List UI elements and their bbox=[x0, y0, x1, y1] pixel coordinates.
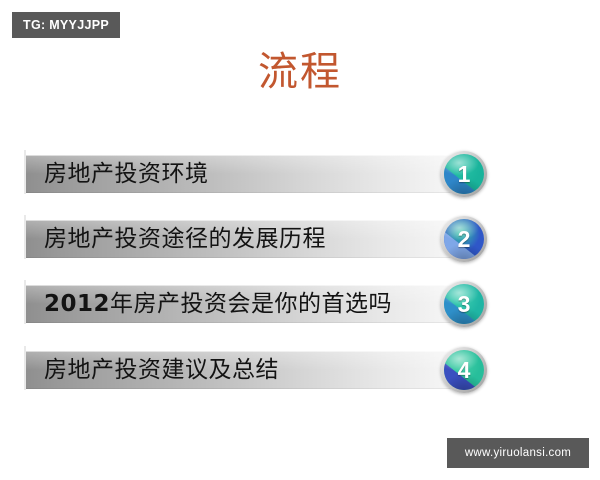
badge-number: 3 bbox=[458, 293, 471, 316]
step-badge-4[interactable]: 4 bbox=[441, 347, 487, 393]
badge-core: 2 bbox=[444, 219, 484, 259]
badge-number: 4 bbox=[458, 359, 471, 382]
list-item[interactable]: 房地产投资建议及总结 4 bbox=[0, 344, 600, 396]
list-item-label: 2012年房产投资会是你的首选吗 bbox=[44, 285, 392, 323]
list-item-label-text: 房地产投资途径的发展历程 bbox=[44, 226, 326, 252]
list-item-label-text: 房地产投资环境 bbox=[44, 161, 209, 187]
step-badge-1[interactable]: 1 bbox=[441, 151, 487, 197]
list-item[interactable]: 2012年房产投资会是你的首选吗 3 bbox=[0, 278, 600, 330]
list-item-label-bold: 2012 bbox=[44, 291, 110, 317]
list-item-label: 房地产投资建议及总结 bbox=[44, 351, 279, 389]
list-item-label-text: 房地产投资建议及总结 bbox=[44, 357, 279, 383]
list-item-label: 房地产投资途径的发展历程 bbox=[44, 220, 326, 258]
step-badge-2[interactable]: 2 bbox=[441, 216, 487, 262]
badge-number: 1 bbox=[458, 163, 471, 186]
step-badge-3[interactable]: 3 bbox=[441, 281, 487, 327]
badge-core: 4 bbox=[444, 350, 484, 390]
watermark-top-left: TG: MYYJJPP bbox=[12, 12, 120, 38]
page-title: 流程 bbox=[0, 46, 600, 98]
list-item[interactable]: 房地产投资途径的发展历程 2 bbox=[0, 213, 600, 265]
list-item-label: 房地产投资环境 bbox=[44, 155, 209, 193]
list-item[interactable]: 房地产投资环境 1 bbox=[0, 148, 600, 200]
badge-core: 1 bbox=[444, 154, 484, 194]
agenda-list: 房地产投资环境 1 房地产投资途径的发展历程 2 bbox=[0, 148, 600, 418]
list-item-label-text: 年房产投资会是你的首选吗 bbox=[110, 291, 392, 317]
watermark-bottom-right: www.yiruolansi.com bbox=[447, 438, 589, 468]
badge-core: 3 bbox=[444, 284, 484, 324]
badge-number: 2 bbox=[458, 228, 471, 251]
